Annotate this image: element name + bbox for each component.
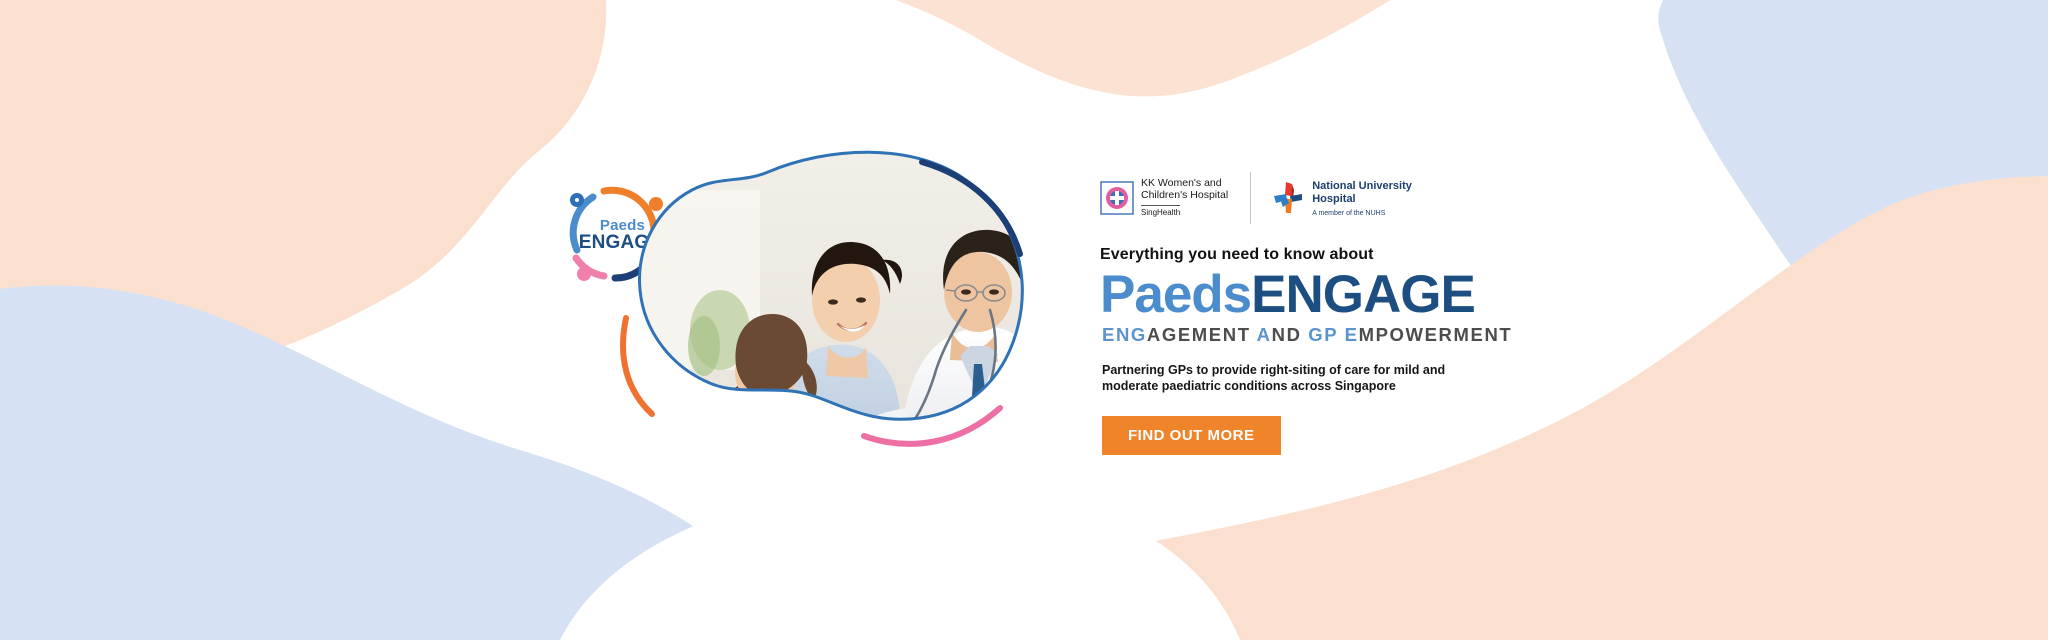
kkh-logo-text: KK Women's and Children's Hospital SingH… xyxy=(1141,177,1228,220)
blob-center-peach xyxy=(640,0,1450,96)
tagline-seg-6: E xyxy=(1345,324,1359,345)
tagline-seg-4: ND xyxy=(1272,324,1309,345)
tagline-seg-7: MPOWERMENT xyxy=(1359,324,1513,345)
nuh-logo[interactable]: National University Hospital A member of… xyxy=(1271,180,1412,217)
nuh-logo-text: National University Hospital A member of… xyxy=(1312,180,1412,217)
tagline-seg-3: A xyxy=(1257,324,1272,345)
tagline-seg-1: ENG xyxy=(1102,324,1147,345)
kkh-cross-icon xyxy=(1100,181,1134,215)
hero-photo-svg xyxy=(600,150,1040,480)
kkh-subtitle: SingHealth xyxy=(1141,205,1180,217)
kkh-name-line2: Children's Hospital xyxy=(1141,189,1228,202)
description: Partnering GPs to provide right-siting o… xyxy=(1102,362,1462,394)
kkh-name-line1: KK Women's and xyxy=(1141,177,1228,190)
description-line1: Partnering GPs to provide right-siting o… xyxy=(1102,363,1445,377)
blob-bottom-center-white xyxy=(560,480,1240,640)
banner-content: KK Women's and Children's Hospital SingH… xyxy=(1100,170,1580,455)
hero-photo xyxy=(600,150,1040,480)
logos-divider xyxy=(1250,172,1251,224)
stethoscope-chestpiece xyxy=(845,441,859,455)
kkh-logo[interactable]: KK Women's and Children's Hospital SingH… xyxy=(1100,177,1228,220)
description-line2: moderate paediatric conditions across Si… xyxy=(1102,379,1396,393)
blob-accent-orange xyxy=(623,318,652,414)
paedsengage-banner: Paeds ENGAGE xyxy=(0,0,2048,640)
partner-logos-row: KK Women's and Children's Hospital SingH… xyxy=(1100,170,1580,226)
tagline-seg-2: AGEMENT xyxy=(1147,324,1257,345)
eyebrow-text: Everything you need to know about xyxy=(1100,246,1580,264)
tagline: ENGAGEMENT AND GP EMPOWERMENT xyxy=(1102,324,1580,346)
logo-dot-blue-center xyxy=(575,198,579,202)
nuh-name-line2: Hospital xyxy=(1312,193,1412,206)
nuh-subtitle: A member of the NUHS xyxy=(1312,210,1412,217)
brand-paeds: Paeds xyxy=(1100,265,1251,324)
tagline-seg-5: GP xyxy=(1308,324,1344,345)
nuh-name-line1: National University xyxy=(1312,180,1412,193)
find-out-more-button[interactable]: FIND OUT MORE xyxy=(1102,416,1281,455)
brand-engage: ENGAGE xyxy=(1251,265,1475,324)
logo-dot-pink xyxy=(577,267,591,281)
brand-title: PaedsENGAGE xyxy=(1100,268,1580,322)
nuh-cross-icon xyxy=(1271,180,1305,216)
